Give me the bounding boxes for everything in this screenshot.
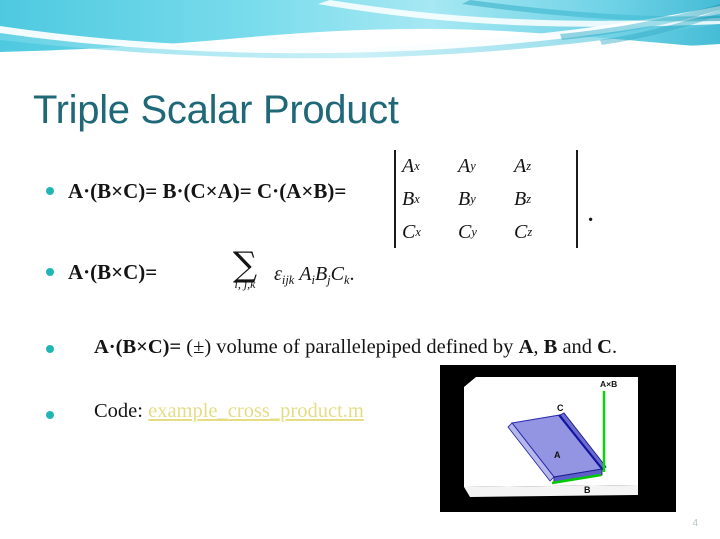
bullet-dot-icon xyxy=(46,187,54,195)
det-cell-1-1: By xyxy=(458,183,514,216)
bullet-dot-icon xyxy=(46,411,54,419)
bullet-item-summation: A·(B×C)= ∑ i, j,k εijk AiBjCk. xyxy=(42,253,718,311)
page-title: Triple Scalar Product xyxy=(33,88,399,133)
slide-number: 4 xyxy=(692,518,698,529)
equation1-period: . xyxy=(588,202,593,227)
figure-label-a-cross-b: A×B xyxy=(600,379,617,389)
volume-description: A·(B×C)= (±) volume of parallelepiped de… xyxy=(68,334,718,361)
figure-label-a: A xyxy=(554,450,561,460)
det-cell-2-1: Cy xyxy=(458,216,514,248)
determinant-matrix: Ax Ay Az Bx By Bz Cx Cy Cz xyxy=(394,150,578,248)
det-cell-2-2: Cz xyxy=(514,216,570,248)
equation2-terms: εijk AiBjCk. xyxy=(274,263,354,288)
bullet-item-volume: A·(B×C)= (±) volume of parallelepiped de… xyxy=(42,334,718,361)
det-cell-0-0: Ax xyxy=(402,150,458,183)
det-cell-2-0: Cx xyxy=(402,216,458,248)
det-cell-1-0: Bx xyxy=(402,183,458,216)
bullet-item-determinant: A·(B×C)= B·(C×A)= C·(A×B)= Ax Ay Az Bx B… xyxy=(42,150,718,250)
figure-label-b: B xyxy=(584,485,591,495)
matlab-parallelepiped-figure: A B C A×B xyxy=(440,365,676,512)
bullet-dot-icon xyxy=(46,268,54,276)
code-file-link[interactable]: example_cross_product.m xyxy=(148,400,364,422)
equation2-left-side: A·(B×C)= xyxy=(68,261,157,284)
det-cell-0-2: Az xyxy=(514,150,570,183)
det-cell-1-2: Bz xyxy=(514,183,570,216)
bullet-dot-icon xyxy=(46,345,54,353)
summation-operator: ∑ i, j,k xyxy=(218,249,272,292)
wave-banner-decoration xyxy=(0,0,720,62)
summation-indices: i, j,k xyxy=(218,277,272,292)
code-label: Code: xyxy=(94,400,148,422)
determinant-grid: Ax Ay Az Bx By Bz Cx Cy Cz xyxy=(396,150,576,248)
presentation-slide: Triple Scalar Product A·(B×C)= B·(C×A)= … xyxy=(0,0,720,539)
det-cell-0-1: Ay xyxy=(458,150,514,183)
equation1-left-side: A·(B×C)= B·(C×A)= C·(A×B)= xyxy=(68,180,346,203)
determinant-bar-right xyxy=(576,150,578,248)
figure-label-c: C xyxy=(557,403,564,413)
